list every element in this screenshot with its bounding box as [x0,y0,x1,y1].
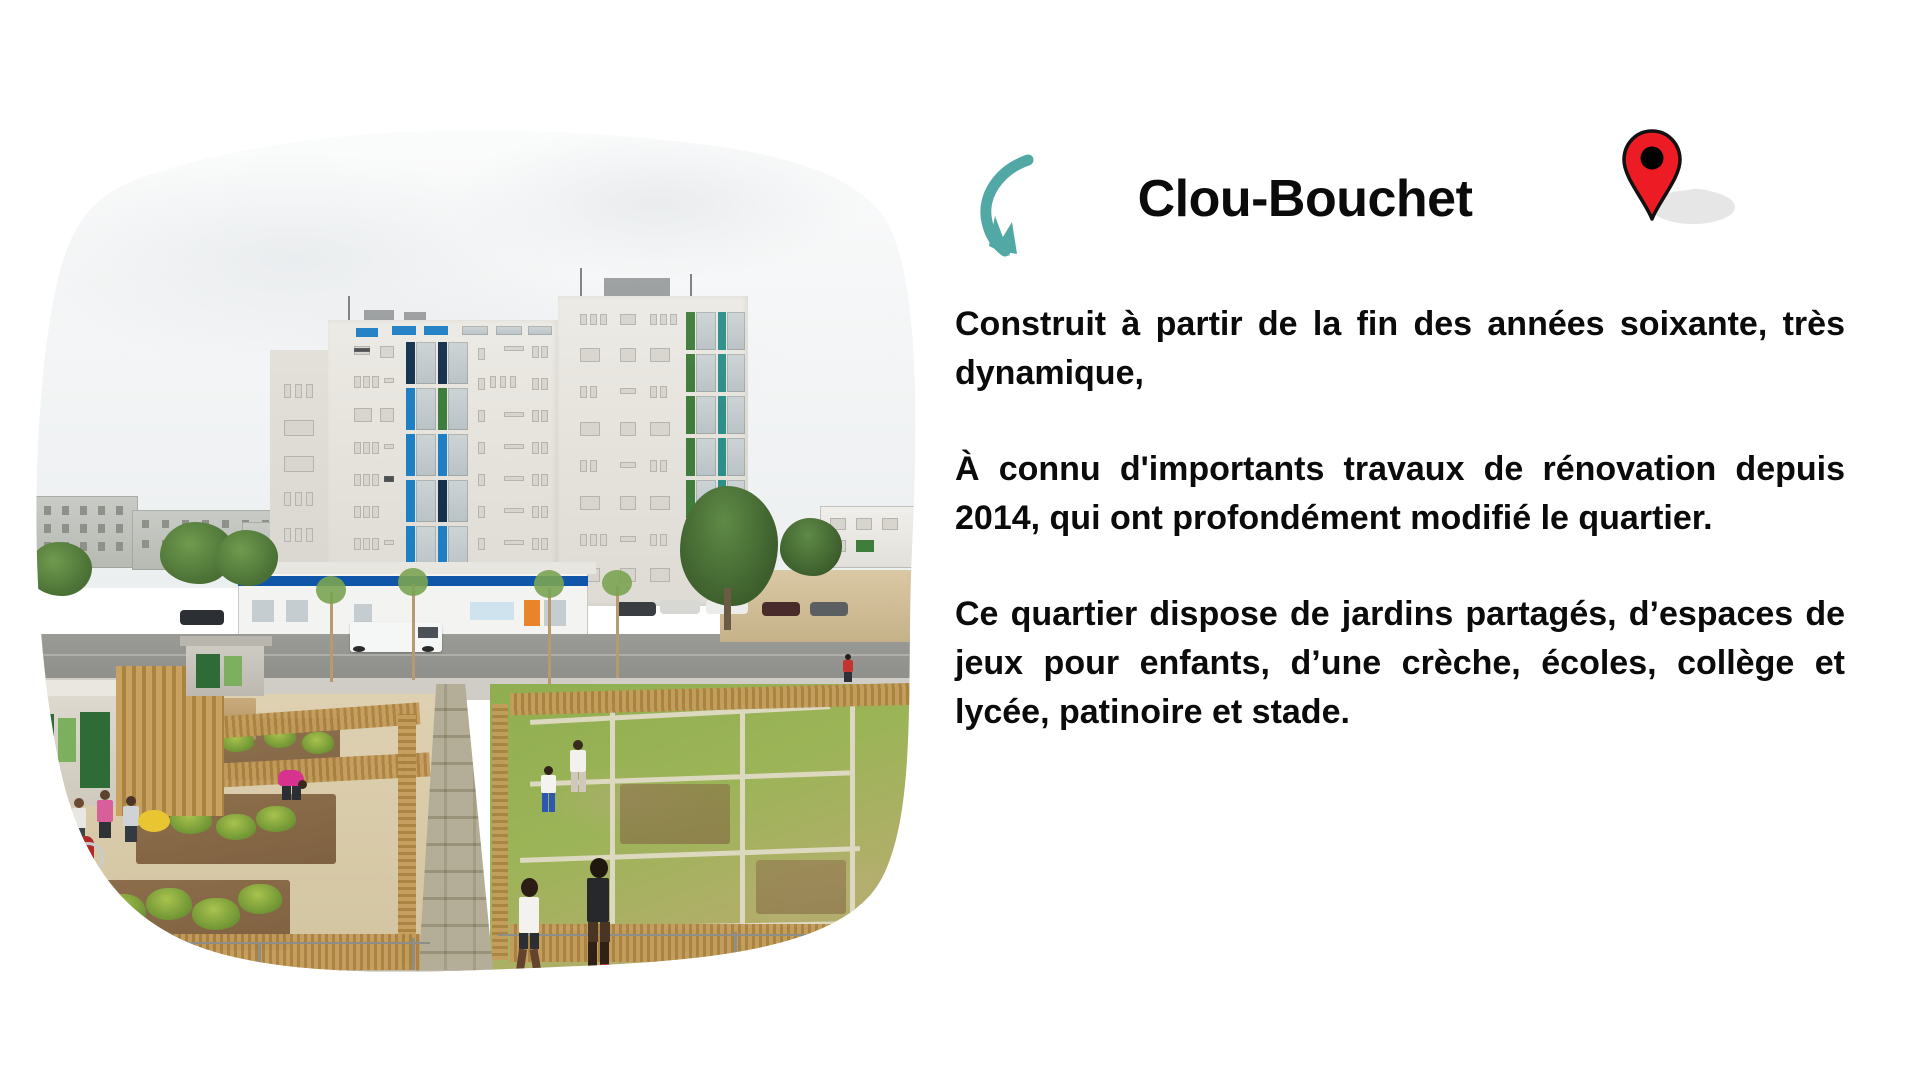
photo-car-right-2 [660,600,700,614]
photo-veg-2 [96,894,146,928]
paragraph-3: Ce quartier dispose de jardins partagés,… [955,590,1845,737]
photo-sapling-1-top [316,576,346,604]
title-row: Clou-Bouchet [955,128,1885,224]
photo-person-gardener-pink [278,768,306,800]
photo-veg-11 [302,732,334,754]
photo-sapling-2 [412,584,415,680]
photo-rail-post-2 [258,942,261,976]
photo-small-shed [186,644,264,696]
photo-sapling-2-top [398,568,428,596]
paragraph-1: Construit à partir de la fin des années … [955,300,1845,398]
photo-stroller [60,836,94,866]
slide-root: Clou-Bouchet Construit à partir de la fi… [0,0,1920,1080]
photo-blob-mask [20,118,930,976]
photo-front-paving [20,970,930,976]
photo-rail-post-1 [116,942,119,976]
photo-rail-post-5 [734,932,737,976]
photo-sapling-4 [616,586,619,678]
photo-railing-bottom-left [30,942,430,946]
photo-tree-left-2 [216,530,278,586]
photo-person-walker-2 [582,858,614,970]
photo-veg-8 [256,806,296,832]
photo-railing-bottom-right [498,934,918,938]
photo-tree-left-3 [28,542,92,596]
photo-sapling-1 [330,592,333,682]
description-text: Construit à partir de la fin des années … [955,300,1845,736]
photo-person-seated-2 [96,790,114,838]
paragraph-2: À connu d'importants travaux de rénovati… [955,445,1845,543]
photo-person-child-lawn [540,766,558,812]
photo-person-adult-lawn [568,740,588,792]
map-pin-icon [1615,123,1735,233]
photo-veg-1 [50,884,96,916]
photo-car-right-5 [810,602,848,616]
photo-sapling-4-top [602,570,632,596]
page-title: Clou-Bouchet [955,171,1655,228]
photo-car-right-1 [616,602,656,616]
photo-person-distant [842,654,854,682]
photo-tower-center [328,320,558,602]
photo-veg-5 [238,884,282,914]
photo-veg-4 [192,898,240,930]
photo-car-right-4 [762,602,800,616]
photo-car-left [180,610,224,625]
photo-fence-path-left [398,714,416,964]
photo-veg-3 [146,888,192,920]
photo-yellow-table [138,810,170,832]
photo-tree-right-2 [780,518,842,576]
photo-wheel [72,842,104,874]
photo-white-van [350,622,442,652]
photo-tree-big-trunk [724,588,731,630]
photo-fence-bottom-right [510,924,930,962]
photo-sapling-3 [548,588,551,684]
photo-veg-7 [216,814,256,840]
content-column: Clou-Bouchet Construit à partir de la fi… [955,0,1885,1080]
photo-shed-roof [180,636,272,646]
photo-sapling-3-top [534,570,564,598]
photo-person-walker-1 [514,878,544,976]
photo-fence-path-right [492,704,508,960]
neighborhood-photo [20,118,930,976]
photo-fence-bottom [20,934,420,972]
